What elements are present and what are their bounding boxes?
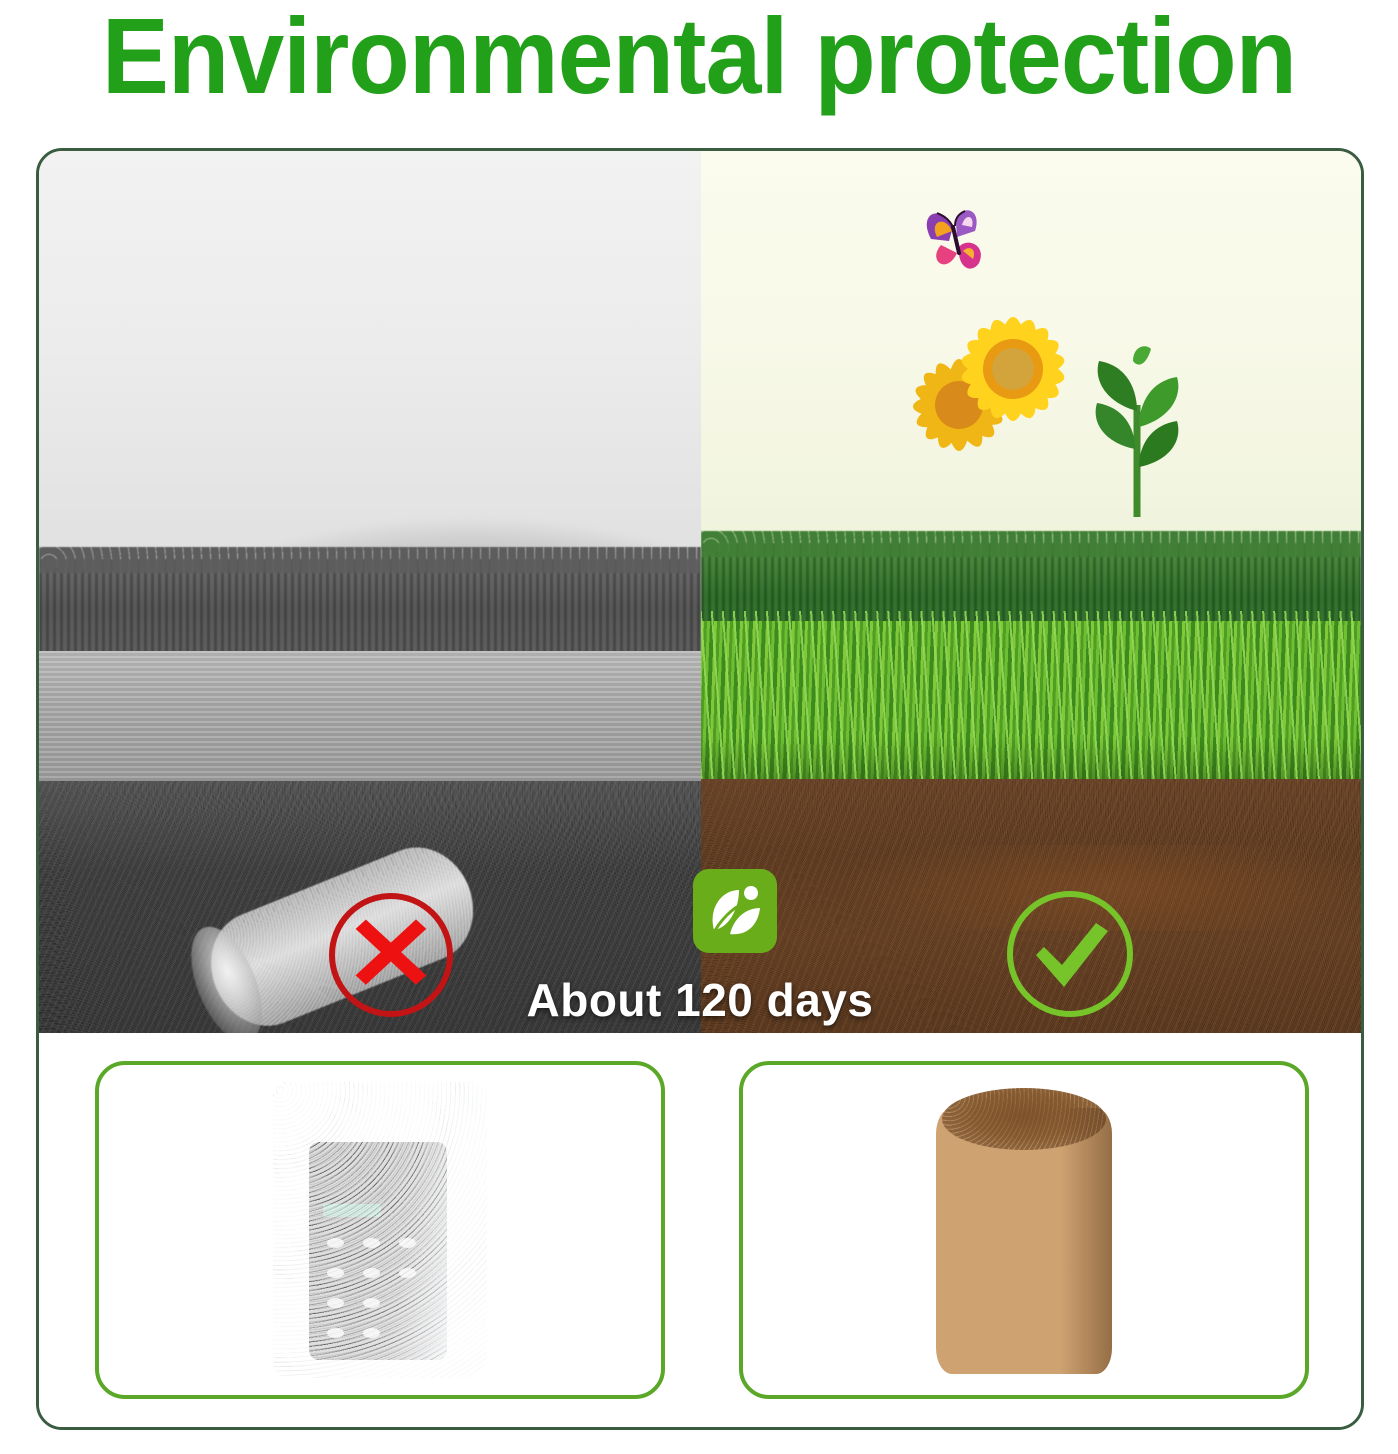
panel-honeycomb-paper[interactable] <box>739 1061 1309 1399</box>
poster-frame: ✕ <box>36 148 1364 1430</box>
hero-split-scene: ✕ <box>39 151 1361 1033</box>
poster-root: Environmental protection <box>0 0 1398 1454</box>
seedling-plant-icon <box>1059 341 1219 521</box>
field-grayscale <box>39 651 701 787</box>
panel-plastic-bubble-wrap[interactable] <box>95 1061 665 1399</box>
grass-blades <box>701 611 1361 787</box>
leaf-sprout-icon <box>693 869 777 953</box>
honeycomb-paper-roll-image <box>936 1082 1112 1378</box>
bubble-wrap-overlay <box>273 1082 487 1378</box>
page-title: Environmental protection <box>49 0 1349 118</box>
butterfly-icon <box>901 197 1021 277</box>
bubble-wrapped-remote-image <box>273 1082 487 1378</box>
product-comparison-section: VS <box>39 1033 1361 1427</box>
degrade-time-caption: About 120 days <box>39 974 1361 1026</box>
honeycomb-shading <box>1060 1108 1112 1374</box>
